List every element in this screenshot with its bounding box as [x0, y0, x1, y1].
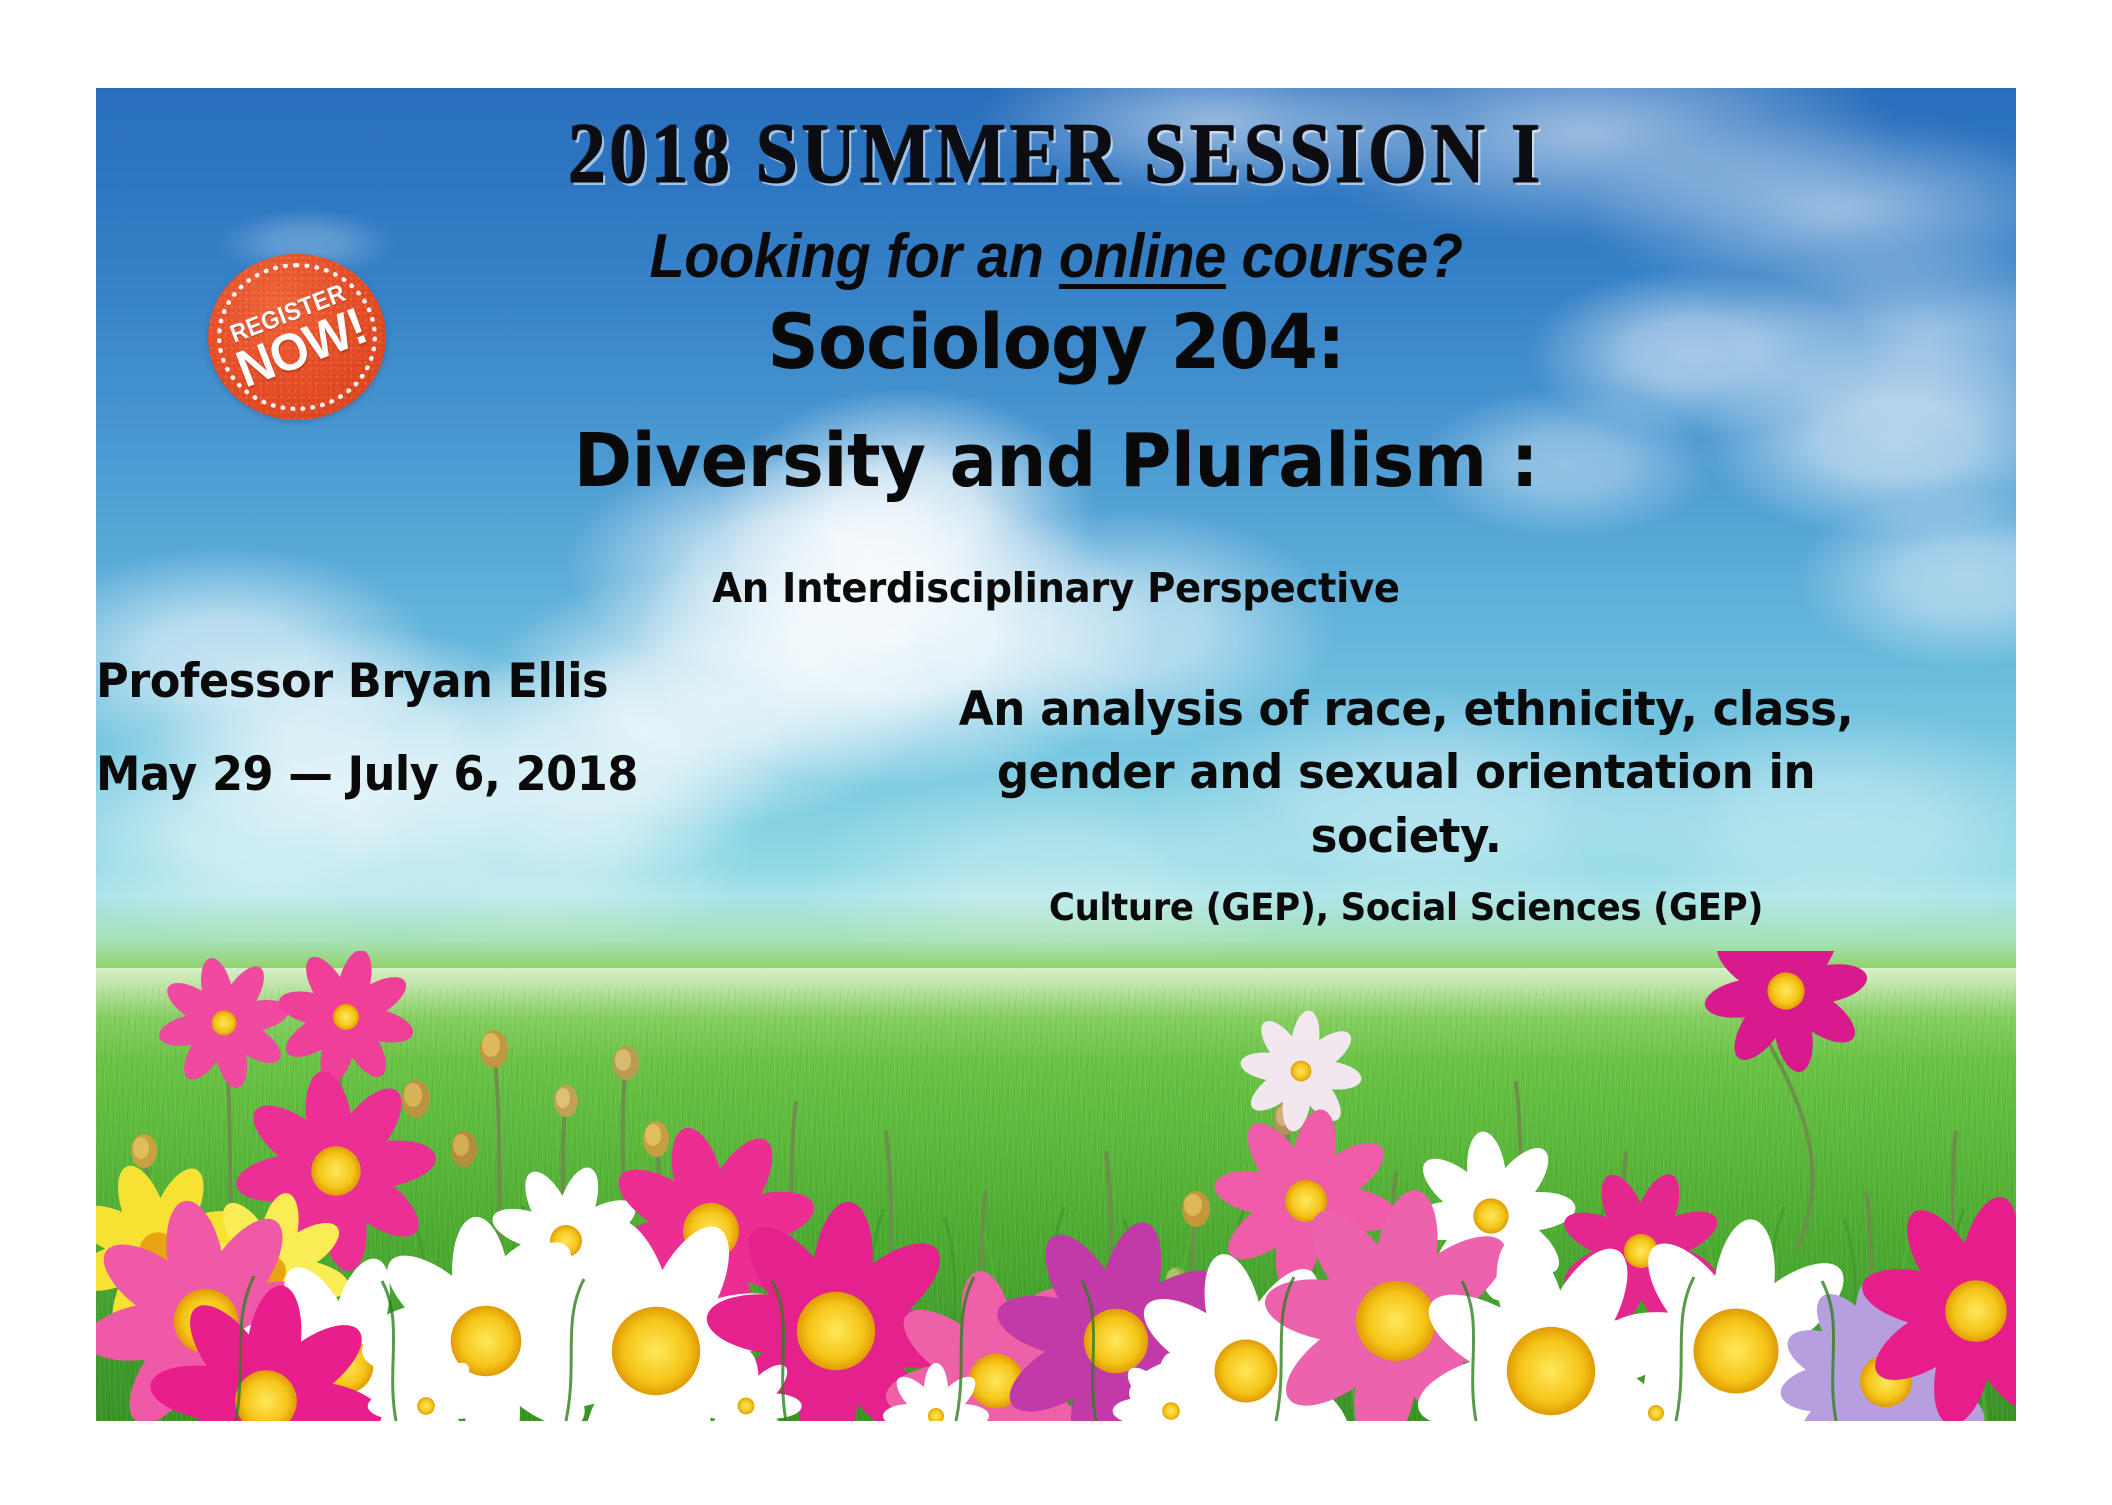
question-suffix: course?: [1226, 222, 1463, 291]
course-dates: May 29 — July 6, 2018: [96, 751, 818, 798]
course-description-block: An analysis of race, ethnicity, class, g…: [926, 678, 1886, 929]
course-subtitle: An Interdisciplinary Perspective: [154, 566, 1959, 611]
instructor-info: Professor Bryan Ellis May 29 — July 6, 2…: [96, 658, 856, 798]
poster-page: REGISTER NOW! 2018 SUMMER SESSION I Look…: [0, 0, 2112, 1505]
course-number: Sociology 204:: [154, 302, 1959, 382]
question-prefix: Looking for an: [649, 222, 1058, 291]
online-course-question: Looking for an online course?: [163, 224, 1949, 289]
question-emphasis-online: online: [1059, 222, 1226, 291]
course-title: Diversity and Pluralism :: [144, 423, 1968, 501]
course-description: An analysis of race, ethnicity, class, g…: [945, 678, 1867, 868]
poster-content: 2018 SUMMER SESSION I Looking for an onl…: [96, 88, 2016, 1421]
gep-requirements: Culture (GEP), Social Sciences (GEP): [945, 888, 1867, 929]
instructor-name: Professor Bryan Ellis: [96, 658, 818, 705]
poster-canvas: REGISTER NOW! 2018 SUMMER SESSION I Look…: [96, 88, 2016, 1421]
session-headline: 2018 SUMMER SESSION I: [211, 110, 1901, 196]
